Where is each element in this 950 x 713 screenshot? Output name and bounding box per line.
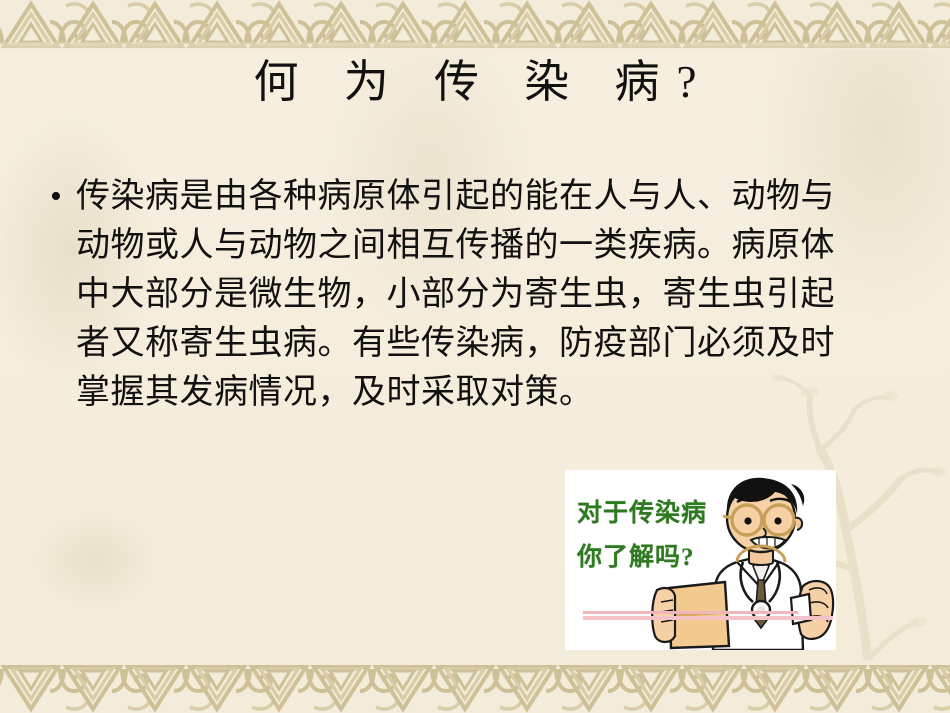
pink-rule-lower: [583, 616, 833, 620]
pink-rule-upper: [583, 611, 798, 614]
bullet-paragraph: • 传染病是由各种病原体引起的能在人与人、动物与动物或人与动物之间相互传播的一类…: [50, 172, 850, 417]
slide-body: • 传染病是由各种病原体引起的能在人与人、动物与动物或人与动物之间相互传播的一类…: [50, 172, 850, 417]
bullet-marker: •: [50, 172, 76, 221]
slide-canvas: 何 为 传 染 病? • 传染病是由各种病原体引起的能在人与人、动物与动物或人与…: [0, 0, 950, 713]
doctor-illustration: [565, 470, 836, 650]
cartoon-image: 对于传染病 你了解吗?: [565, 470, 836, 650]
top-decorative-border: [0, 0, 950, 50]
bullet-paragraph-text: 传染病是由各种病原体引起的能在人与人、动物与动物或人与动物之间相互传播的一类疾病…: [76, 172, 850, 417]
slide-title: 何 为 传 染 病?: [0, 54, 950, 110]
bottom-decorative-border: [0, 662, 950, 713]
